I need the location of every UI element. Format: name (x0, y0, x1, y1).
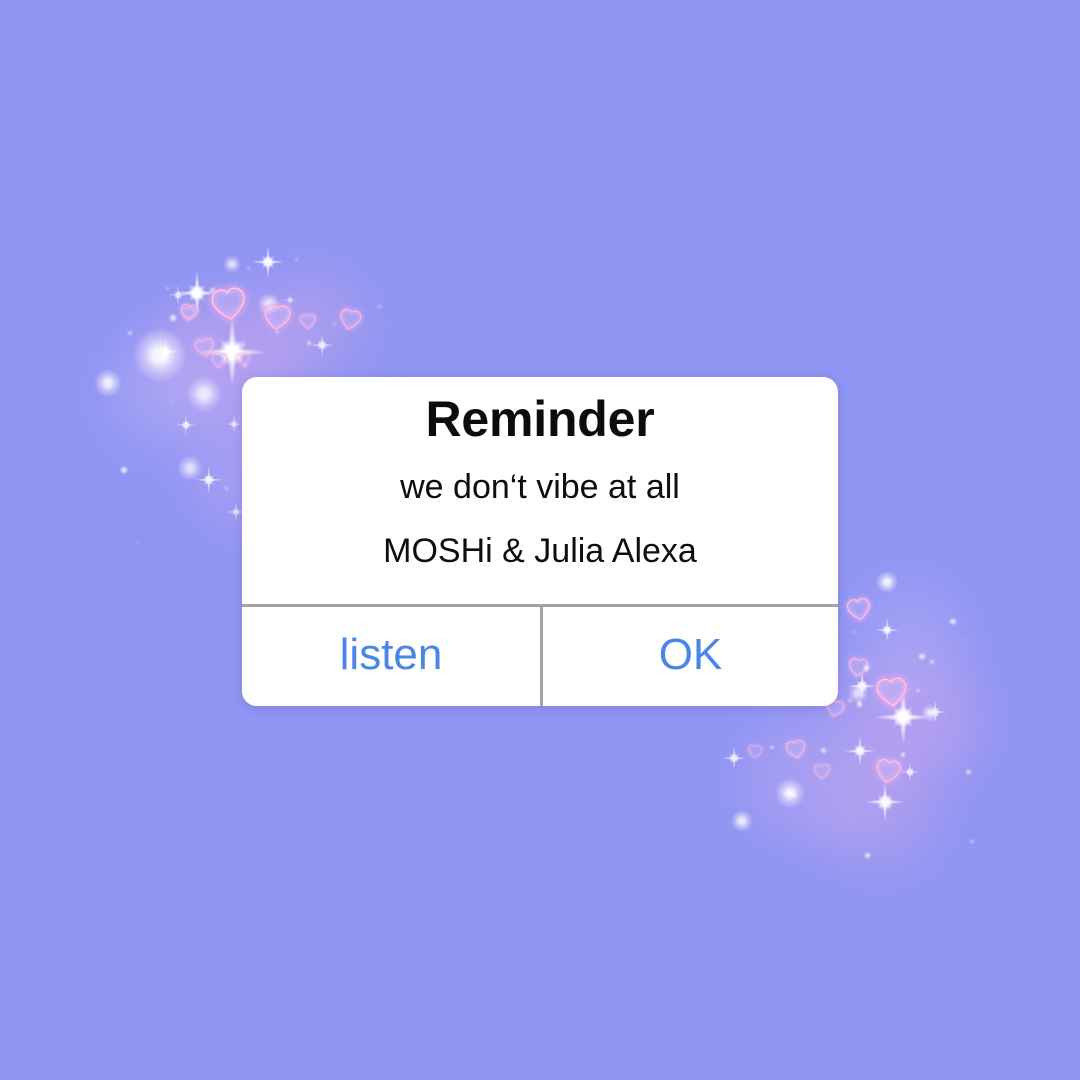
sparkle-glow-icon (731, 810, 753, 832)
ok-button[interactable]: OK (540, 607, 838, 706)
sparkle-glow-icon (133, 328, 187, 382)
sparkle-speck-icon (848, 699, 852, 703)
heart-icon (873, 674, 910, 711)
sparkle-speck-icon (166, 287, 169, 290)
heart-icon (336, 306, 364, 334)
heart-icon (209, 351, 229, 371)
heart-icon (813, 763, 831, 781)
sparkle-speck-icon (121, 467, 127, 473)
screen-canvas: Reminder we don‘t vibe at all MOSHi & Ju… (0, 0, 1080, 1080)
sparkle-star-icon (245, 239, 291, 285)
sparkle-speck-icon (170, 315, 175, 320)
sparkle-star-icon (717, 741, 751, 775)
sparkle-speck-icon (852, 631, 855, 634)
sparkle-star-icon (918, 695, 952, 729)
sparkle-speck-icon (864, 665, 869, 670)
sparkle-glow-icon (848, 683, 868, 703)
sparkle-speck-icon (136, 542, 138, 544)
sparkle-glow-icon (223, 255, 241, 273)
sparkle-speck-icon (247, 267, 250, 270)
heart-icon (846, 656, 871, 681)
sparkle-speck-icon (225, 487, 229, 491)
haze-blob (740, 720, 890, 840)
sparkle-star-icon (838, 729, 882, 773)
sparkle-speck-icon (128, 331, 132, 335)
listen-button[interactable]: listen (242, 607, 540, 706)
sparkle-speck-icon (172, 399, 174, 401)
sparkle-star-icon (778, 782, 800, 804)
sparkle-speck-icon (770, 746, 774, 750)
sparkle-star-icon (189, 460, 229, 500)
sparkle-speck-icon (966, 770, 970, 774)
sparkle-glow-icon (921, 704, 939, 722)
sparkle-star-icon (163, 280, 193, 310)
sparkle-speck-icon (276, 331, 279, 334)
sparkle-speck-icon (333, 322, 336, 325)
sparkle-speck-icon (901, 752, 905, 756)
sparkle-glow-icon (186, 376, 222, 412)
sparkle-glow-icon (94, 369, 122, 397)
haze-blob (840, 650, 980, 790)
sparkle-star-icon (146, 332, 186, 372)
sparkle-star-icon (864, 678, 942, 756)
heart-icon (180, 306, 196, 322)
heart-icon (746, 743, 764, 761)
heart-icon (783, 737, 808, 762)
sparkle-star-icon (305, 328, 339, 362)
heart-icon (872, 756, 904, 788)
sparkle-speck-icon (821, 748, 826, 753)
sparkle-speck-icon (950, 619, 956, 625)
haze-blob (820, 770, 940, 870)
sparkle-speck-icon (242, 343, 246, 347)
dialog-action-bar: listen OK (242, 604, 838, 706)
heart-icon (192, 335, 218, 361)
sparkle-star-icon (279, 289, 301, 311)
sparkle-star-icon (841, 665, 883, 707)
sparkle-star-icon (895, 757, 925, 787)
heart-icon (261, 302, 294, 335)
sparkle-star-icon (857, 774, 913, 830)
heart-icon (177, 301, 200, 324)
heart-icon (235, 352, 251, 368)
alert-dialog: Reminder we don‘t vibe at all MOSHi & Ju… (242, 377, 838, 706)
sparkle-speck-icon (210, 288, 214, 292)
sparkle-speck-icon (378, 305, 381, 308)
dialog-title: Reminder (260, 377, 820, 448)
dialog-body: Reminder we don‘t vibe at all MOSHi & Ju… (242, 377, 838, 604)
heart-icon (298, 312, 318, 332)
sparkle-star-icon (166, 262, 228, 324)
sparkle-speck-icon (965, 639, 967, 641)
sparkle-speck-icon (307, 341, 311, 345)
heart-icon (208, 284, 251, 327)
sparkle-speck-icon (970, 840, 974, 844)
sparkle-speck-icon (916, 689, 920, 693)
dialog-message-line-1: we don‘t vibe at all (260, 448, 820, 504)
haze-blob (255, 275, 365, 370)
dialog-message-line-2: MOSHi & Julia Alexa (260, 504, 820, 568)
sparkle-speck-icon (857, 701, 863, 707)
heart-icon (844, 595, 873, 624)
haze-blob (105, 340, 215, 450)
sparkle-glow-icon (876, 571, 898, 593)
sparkle-speck-icon (930, 660, 935, 665)
sparkle-star-icon (171, 410, 201, 440)
sparkle-glow-icon (177, 455, 203, 481)
sparkle-speck-icon (865, 853, 871, 859)
sparkle-glow-icon (258, 293, 280, 315)
sparkle-star-icon (870, 613, 904, 647)
sparkle-speck-icon (295, 258, 298, 261)
sparkle-speck-icon (244, 364, 248, 368)
sparkle-glow-icon (775, 778, 805, 808)
haze-blob (855, 580, 965, 690)
sparkle-speck-icon (791, 793, 795, 797)
sparkle-speck-icon (919, 654, 925, 660)
